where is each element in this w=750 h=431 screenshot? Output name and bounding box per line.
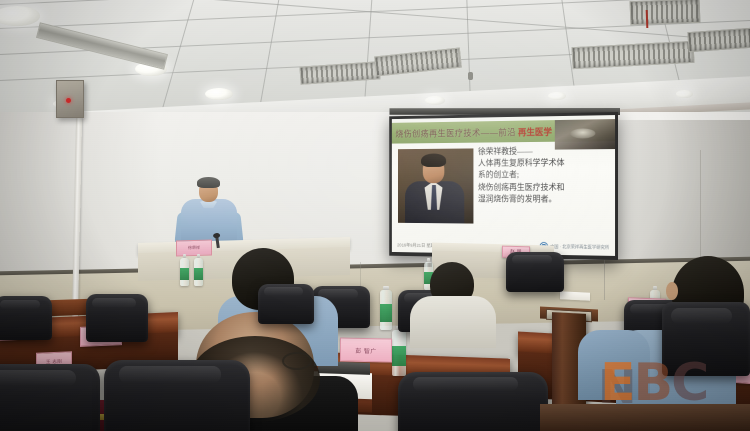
bottle-label xyxy=(380,304,392,322)
slide-body-line: 湿润烧伤膏的发明者。 xyxy=(478,194,609,206)
chair xyxy=(104,360,250,431)
slide-portrait-photo xyxy=(398,148,473,223)
ceiling-downlight xyxy=(205,88,233,100)
chair-highlight xyxy=(119,366,221,383)
chair-highlight xyxy=(0,300,40,310)
audience-person-ear xyxy=(666,282,678,300)
watermark-prefix: N xyxy=(598,360,634,414)
ceiling-downlight xyxy=(548,92,566,100)
bottle-cap xyxy=(653,286,657,290)
bottle-cap xyxy=(183,254,187,258)
presenter-hair xyxy=(197,177,220,188)
water-bottle xyxy=(380,290,392,330)
bottle-cap xyxy=(197,254,201,258)
chair xyxy=(258,284,314,324)
portrait-hair xyxy=(421,153,446,167)
water-bottle xyxy=(194,258,203,286)
chair-highlight xyxy=(413,377,518,391)
chair xyxy=(662,302,750,376)
slide-body-line: 人体再生复原科学学术体 xyxy=(478,157,609,170)
chair xyxy=(0,364,100,431)
presenter-name-card-text: 徐荣祥 xyxy=(188,245,200,251)
bottle-label xyxy=(392,346,406,366)
chair-highlight xyxy=(0,370,76,386)
bottle-cap xyxy=(383,286,388,290)
speaker-led-indicator xyxy=(66,98,71,103)
ceiling-sensor xyxy=(468,72,473,80)
chair xyxy=(0,296,52,340)
bottle-label xyxy=(194,268,203,280)
chair xyxy=(506,252,564,292)
slide-banner-title: 烧伤创疡再生医疗技术——前沿 xyxy=(392,125,516,139)
chair xyxy=(86,294,148,342)
slide-body-line: 烧伤创疡再生医疗技术和 xyxy=(478,182,609,194)
slide-body-line: 系的创立者; xyxy=(478,169,609,181)
chair xyxy=(398,372,548,431)
water-bottle xyxy=(180,258,189,286)
projected-slide: 烧伤创疡再生医疗技术——前沿 再生医学 徐荣祥教授—— 人体再生复原科学学术体 … xyxy=(392,115,615,256)
slide-body-line: 徐荣祥教授—— xyxy=(478,145,609,158)
bottle-label xyxy=(180,268,189,280)
chair-highlight xyxy=(512,255,553,264)
chair-highlight xyxy=(264,287,303,296)
eyeglasses-icon xyxy=(282,352,312,370)
ceiling-light-troffer xyxy=(687,28,750,52)
name-card: 彭 智广 xyxy=(340,337,392,362)
chair-highlight xyxy=(671,308,733,324)
slide-banner-subtitle: 再生医学 xyxy=(518,125,552,138)
ceiling-air-vent xyxy=(630,0,701,25)
bottle-cap xyxy=(427,258,431,262)
slide-header-banner: 烧伤创疡再生医疗技术——前沿 再生医学 xyxy=(392,119,615,144)
projection-screen: 烧伤创疡再生医疗技术——前沿 再生医学 徐荣祥教授—— 人体再生复原科学学术体 … xyxy=(389,112,618,260)
audience-person-shoulders xyxy=(410,296,496,348)
ceiling-downlight xyxy=(425,96,445,105)
presenter-name-card: 徐荣祥 xyxy=(176,239,212,256)
chair-highlight xyxy=(92,298,135,309)
photo-scene: 烧伤创疡再生医疗技术——前沿 再生医学 徐荣祥教授—— 人体再生复原科学学术体 … xyxy=(0,0,750,431)
slide-body-text: 徐荣祥教授—— 人体再生复原科学学术体 系的创立者; 烧伤创疡再生医疗技术和 湿… xyxy=(478,145,609,206)
ceiling-downlight xyxy=(676,90,693,98)
floor xyxy=(540,404,750,431)
water-bottle xyxy=(392,330,406,376)
document-sheet xyxy=(560,291,590,301)
name-card-text: 彭 智广 xyxy=(355,345,376,354)
slide-footer-logo-text: 中国 · 北京荣祥再生医学研究所 xyxy=(550,243,609,250)
